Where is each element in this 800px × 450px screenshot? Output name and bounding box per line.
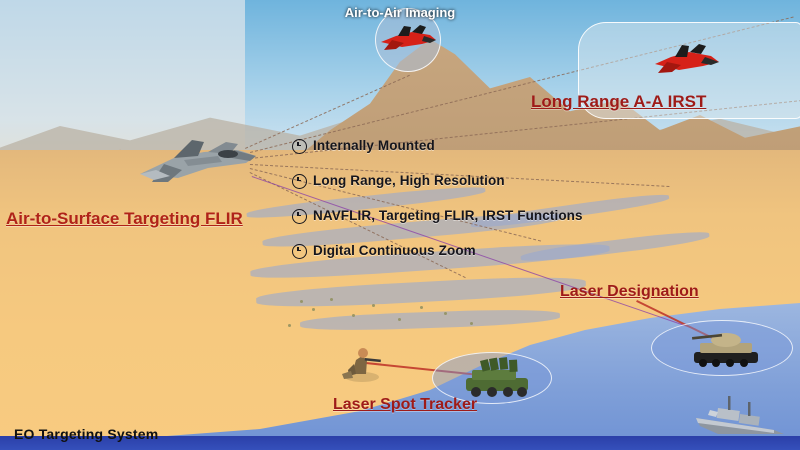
terrain-speck <box>300 300 303 303</box>
terrain-speck <box>420 306 423 309</box>
terrain-speck <box>372 304 375 307</box>
caption-long-range-aa-irst: Long Range A-A IRST <box>531 92 706 112</box>
bullet-item: Long Range, High Resolution <box>292 173 632 189</box>
bullet-item: Internally Mounted <box>292 138 632 154</box>
terrain-speck <box>312 308 315 311</box>
terrain-speck <box>398 318 401 321</box>
bullet-label: Digital Continuous Zoom <box>313 243 476 258</box>
bullet-label: Internally Mounted <box>313 138 435 153</box>
terrain-speck <box>288 324 291 327</box>
bullet-label: Long Range, High Resolution <box>313 173 505 188</box>
bullet-label: NAVFLIR, Targeting FLIR, IRST Functions <box>313 208 583 223</box>
caption-air-to-surface-targeting-flir: Air-to-Surface Targeting FLIR <box>6 209 243 229</box>
threat-aircraft-red <box>651 43 723 77</box>
threat-aircraft-red <box>378 24 440 54</box>
bullet-item: NAVFLIR, Targeting FLIR, IRST Functions <box>292 208 632 224</box>
scene-canvas: Internally Mounted Long Range, High Reso… <box>0 0 800 450</box>
clock-bullet-icon <box>292 244 307 259</box>
bullet-item: Digital Continuous Zoom <box>292 243 632 259</box>
naval-warship <box>688 392 792 440</box>
terrain-speck <box>470 322 473 325</box>
feature-bullet-list: Internally Mounted Long Range, High Reso… <box>292 138 632 278</box>
clock-bullet-icon <box>292 174 307 189</box>
friendly-stealth-fighter <box>134 130 262 192</box>
terrain-speck <box>352 314 355 317</box>
caption-laser-designation: Laser Designation <box>560 283 699 301</box>
clock-bullet-icon <box>292 139 307 154</box>
clock-bullet-icon <box>292 209 307 224</box>
sam-launcher-vehicle <box>458 352 538 400</box>
terrain-speck <box>444 312 447 315</box>
laser-designator-team <box>342 344 384 382</box>
enemy-tank <box>690 327 764 369</box>
caption-laser-spot-tracker: Laser Spot Tracker <box>333 396 477 414</box>
terrain-speck <box>330 298 333 301</box>
